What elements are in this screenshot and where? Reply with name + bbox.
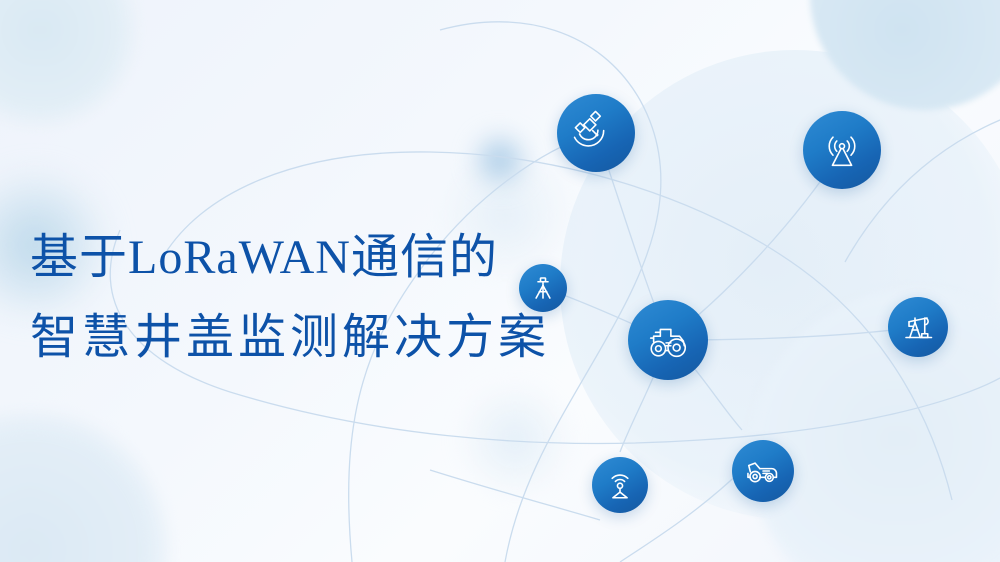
node-satellite[interactable] (557, 94, 635, 172)
slide-title-block: 基于LoRaWAN通信的 智慧井盖监测解决方案 (30, 228, 590, 368)
page-title-line-1: 基于LoRaWAN通信的 (30, 228, 590, 288)
harvester-icon (744, 452, 782, 490)
node-beacon[interactable] (592, 457, 648, 513)
page-title-line-2: 智慧井盖监测解决方案 (30, 308, 590, 368)
oil-pump-icon (900, 309, 936, 345)
node-radio-tower[interactable] (803, 111, 881, 189)
node-tractor[interactable] (628, 300, 708, 380)
tractor-icon (645, 317, 691, 363)
node-harvester[interactable] (732, 440, 794, 502)
beacon-icon (603, 468, 637, 502)
slide-canvas: 基于LoRaWAN通信的 智慧井盖监测解决方案 (0, 0, 1000, 562)
node-oil-pump[interactable] (888, 297, 948, 357)
satellite-icon (573, 110, 619, 156)
radio-tower-icon (819, 127, 865, 173)
